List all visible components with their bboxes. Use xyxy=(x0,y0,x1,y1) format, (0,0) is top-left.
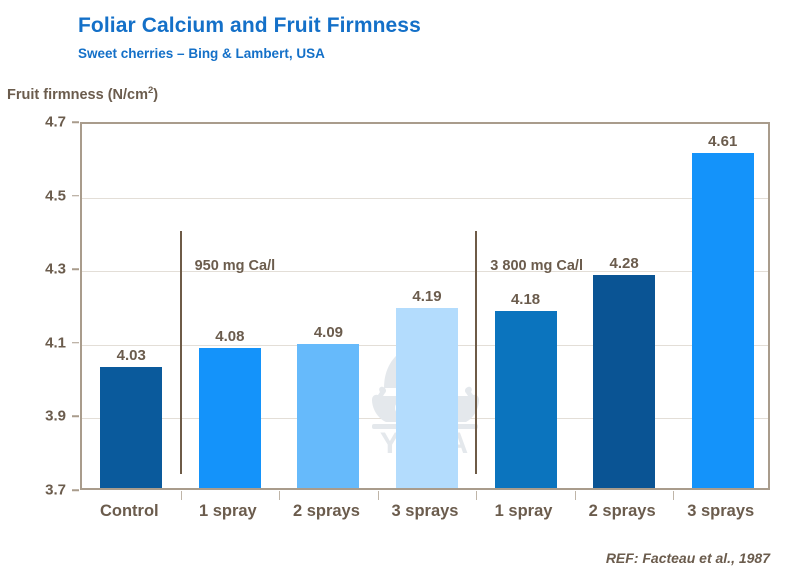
y-axis-tick-mark xyxy=(72,489,79,491)
chart-page: Foliar Calcium and Fruit Firmness Sweet … xyxy=(0,0,786,576)
x-axis-tick-mark xyxy=(378,491,379,500)
x-axis-tick-mark xyxy=(181,491,182,500)
y-axis-tick-label: 3.7 xyxy=(0,482,66,499)
y-axis-title: Fruit firmness (N/cm2) xyxy=(7,85,158,103)
bar xyxy=(593,275,655,488)
bar-value-label: 4.28 xyxy=(579,255,669,272)
y-axis-tick-mark xyxy=(72,342,79,344)
y-axis-tick-mark xyxy=(72,416,79,418)
dose-annotation: 950 mg Ca/l xyxy=(195,258,276,274)
x-axis-tick-label: 3 sprays xyxy=(651,502,786,521)
bar xyxy=(297,344,359,488)
y-axis-tick-label: 3.9 xyxy=(0,408,66,425)
x-axis-tick-mark xyxy=(673,491,674,500)
plot-area: YARA 4.034.084.094.194.184.284.61 950 mg… xyxy=(80,122,770,490)
bar xyxy=(495,311,557,488)
bar xyxy=(199,348,261,488)
y-axis-title-suffix: ) xyxy=(153,87,158,103)
y-axis-tick-label: 4.3 xyxy=(0,261,66,278)
group-divider xyxy=(180,231,182,474)
y-axis-tick-mark xyxy=(72,268,79,270)
x-axis-tick-mark xyxy=(476,491,477,500)
reference-note: REF: Facteau et al., 1987 xyxy=(606,550,770,566)
bar-value-label: 4.08 xyxy=(185,328,275,345)
bar-value-label: 4.03 xyxy=(86,347,176,364)
page-subtitle: Sweet cherries – Bing & Lambert, USA xyxy=(78,46,325,61)
bar-value-label: 4.09 xyxy=(283,324,373,341)
y-axis-tick-label: 4.7 xyxy=(0,114,66,131)
y-axis-tick-mark xyxy=(72,121,79,123)
y-axis-tick-mark xyxy=(72,195,79,197)
bar xyxy=(692,153,754,488)
group-divider xyxy=(475,231,477,474)
x-axis-tick-mark xyxy=(575,491,576,500)
bar xyxy=(396,308,458,488)
bar-value-label: 4.19 xyxy=(382,288,472,305)
y-axis-tick-label: 4.5 xyxy=(0,187,66,204)
bar-value-label: 4.61 xyxy=(678,133,768,150)
x-axis-tick-mark xyxy=(279,491,280,500)
bar xyxy=(100,367,162,488)
gridline xyxy=(82,198,768,199)
y-axis-title-text: Fruit firmness (N/cm xyxy=(7,87,148,103)
dose-annotation: 3 800 mg Ca/l xyxy=(490,258,583,274)
y-axis-tick-label: 4.1 xyxy=(0,334,66,351)
page-title: Foliar Calcium and Fruit Firmness xyxy=(78,14,421,38)
bar-value-label: 4.18 xyxy=(481,291,571,308)
